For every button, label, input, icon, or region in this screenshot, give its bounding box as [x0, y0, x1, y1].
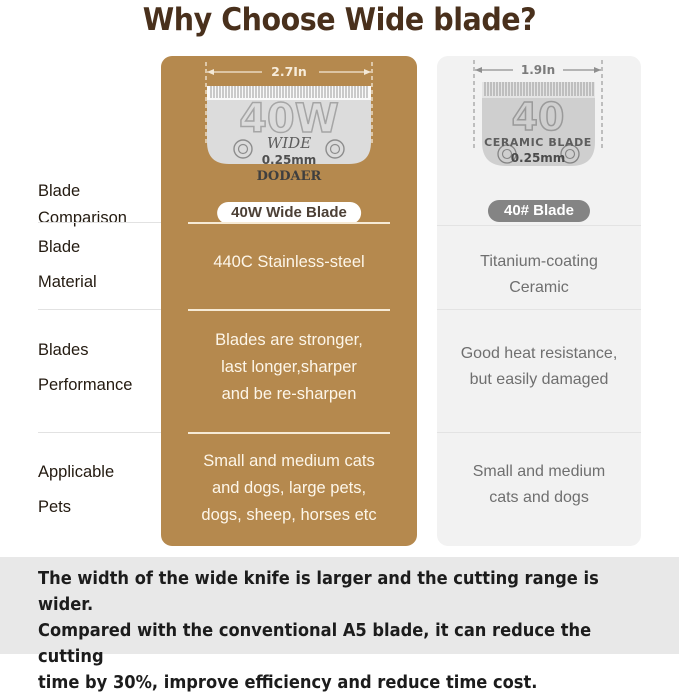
row-label-blades-performance: Blades Performance	[38, 337, 158, 399]
footer-line3: time by 30%, improve efficiency and redu…	[38, 670, 610, 696]
row-label-line2: Performance	[38, 372, 158, 399]
cell-text-line: and dogs, large pets,	[161, 475, 417, 502]
footer-line2: Compared with the conventional A5 blade,…	[38, 618, 610, 670]
row-divider	[38, 432, 161, 433]
row-label-line2: Comparison	[38, 205, 158, 232]
cell-text-line: dogs, sheep, horses etc	[161, 502, 417, 529]
column-wide-blade: 40W WIDE 0.25mm DODAER 2.7In 40W Wide Bl…	[161, 56, 417, 546]
blade-subtitle-text: WIDE	[267, 134, 311, 152]
cell-divider	[188, 309, 390, 311]
column-standard-blade: 40 CERAMIC BLADE 0.25mm 1.9In 40# Blade …	[437, 56, 641, 546]
row-divider	[38, 222, 161, 223]
cell-standard-pets: Small and medium cats and dogs	[437, 459, 641, 511]
blade-subtitle-text: CERAMIC BLADE	[484, 136, 592, 149]
cell-text-line: last longer,sharper	[161, 354, 417, 381]
row-divider	[38, 309, 161, 310]
cell-standard-performance: Good heat resistance, but easily damaged	[437, 341, 641, 393]
cell-text-line: Small and medium cats	[161, 448, 417, 475]
cell-text-line: Ceramic	[437, 275, 641, 301]
cell-text-line: cats and dogs	[437, 485, 641, 511]
footer-line1: The width of the wide knife is larger an…	[38, 566, 610, 618]
pill-label-wide-blade: 40W Wide Blade	[217, 202, 361, 224]
blade-illustration-standard: 40 CERAMIC BLADE 0.25mm 1.9In	[437, 56, 641, 206]
footer-band: The width of the wide knife is larger an…	[0, 557, 679, 654]
page-title: Why Choose Wide blade?	[27, 2, 652, 38]
cell-wide-material: 440C Stainless-steel	[161, 249, 417, 276]
cell-standard-material: Titanium-coating Ceramic	[437, 249, 641, 301]
cell-wide-performance: Blades are stronger, last longer,sharper…	[161, 327, 417, 408]
blade-dimension-text: 1.9In	[521, 63, 555, 77]
row-label-line1: Applicable	[38, 459, 158, 486]
row-label-line1: Blade	[38, 234, 158, 261]
blade-thickness-text: 0.25mm	[511, 151, 566, 165]
cell-divider	[437, 309, 641, 310]
blade-number-text: 40	[512, 95, 565, 139]
cell-divider	[188, 222, 390, 224]
cell-divider	[437, 225, 641, 226]
row-label-applicable-pets: Applicable Pets	[38, 459, 158, 521]
blade-illustration-wide: 40W WIDE 0.25mm DODAER 2.7In	[161, 56, 417, 216]
blade-dimension-text: 2.7In	[271, 64, 307, 79]
cell-text-line: Good heat resistance,	[437, 341, 641, 367]
cell-text-line: Blades are stronger,	[161, 327, 417, 354]
cell-text-line: 440C Stainless-steel	[161, 249, 417, 276]
row-label-blade-material: Blade Material	[38, 234, 158, 296]
cell-text-line: but easily damaged	[437, 367, 641, 393]
row-label-line1: Blades	[38, 337, 158, 364]
row-label-line2: Pets	[38, 494, 158, 521]
cell-text-line: Titanium-coating	[437, 249, 641, 275]
cell-divider	[437, 432, 641, 433]
row-label-line1: Blade	[38, 178, 158, 205]
comparison-table: Blade Comparison Blade Material Blades P…	[0, 56, 679, 546]
cell-text-line: Small and medium	[437, 459, 641, 485]
cell-divider	[188, 432, 390, 434]
cell-text-line: and be re-sharpen	[161, 381, 417, 408]
footer-text: The width of the wide knife is larger an…	[38, 566, 610, 696]
row-label-column: Blade Comparison Blade Material Blades P…	[0, 56, 161, 546]
row-label-blade-comparison: Blade Comparison	[38, 178, 158, 232]
cell-wide-pets: Small and medium cats and dogs, large pe…	[161, 448, 417, 529]
standard-blade-svg: 40 CERAMIC BLADE 0.25mm 1.9In	[437, 56, 641, 206]
blade-thickness-text: 0.25mm	[262, 153, 317, 167]
blade-brand-text: DODAER	[257, 169, 322, 184]
wide-blade-svg: 40W WIDE 0.25mm DODAER 2.7In	[161, 56, 417, 206]
pill-label-standard-blade: 40# Blade	[488, 200, 590, 222]
row-label-line2: Material	[38, 269, 158, 296]
